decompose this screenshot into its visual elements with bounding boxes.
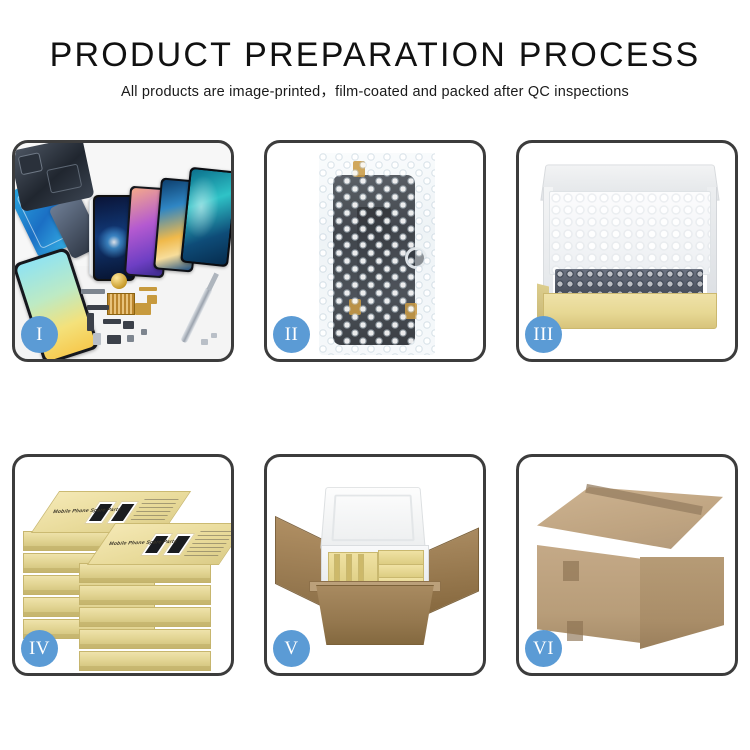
spare-part (107, 335, 121, 344)
spare-part (81, 289, 105, 294)
bubble-texture (319, 153, 435, 355)
step-badge-4: IV (21, 630, 58, 667)
inner-box (378, 550, 424, 565)
bubble-wrapped-contents (555, 269, 703, 295)
process-step-5: V (264, 454, 486, 676)
process-step-grid: I II (12, 140, 738, 680)
screw (141, 329, 147, 335)
tape-mark (567, 621, 583, 641)
process-step-4: Mobile Phone Spare Parts Mobile Phone Sp… (12, 454, 234, 676)
screw (127, 335, 134, 342)
bubble-wrap-bag (319, 153, 435, 355)
step-badge-1: I (21, 316, 58, 353)
logic-board-chip (107, 293, 135, 315)
spare-part (123, 321, 134, 329)
page-subtitle: All products are image-printed，film-coat… (0, 82, 750, 102)
step-badge-5: V (273, 630, 310, 667)
step-badge-3: III (525, 316, 562, 353)
stacked-box (79, 629, 211, 649)
stacked-box (79, 651, 211, 671)
screw (211, 333, 217, 338)
stacked-box (79, 585, 211, 605)
stacked-box (79, 607, 211, 627)
spare-part (93, 333, 101, 345)
foam-sheet (549, 191, 711, 275)
kraft-box-front (543, 293, 717, 329)
outer-carton-body (311, 585, 439, 645)
camera-module (135, 303, 151, 315)
speaker-module (111, 273, 127, 289)
styrofoam-lid (320, 487, 426, 550)
step-badge-6: VI (525, 630, 562, 667)
carton-flap-right (427, 527, 479, 614)
carton-front-face (537, 545, 641, 643)
screwdriver-tool (180, 287, 213, 344)
process-step-6: VI (516, 454, 738, 676)
process-step-2: II (264, 140, 486, 362)
flex-cable (103, 319, 121, 324)
carton-side-face (640, 557, 724, 649)
flex-cable (87, 313, 94, 331)
inner-box (378, 564, 424, 578)
step-badge-2: II (273, 316, 310, 353)
process-step-1: I (12, 140, 234, 362)
stacked-box (79, 563, 211, 583)
phone-screen-teal (180, 167, 231, 267)
page-title: PRODUCT PREPARATION PROCESS (0, 34, 750, 76)
spare-part (139, 287, 157, 291)
process-step-3: III (516, 140, 738, 362)
screw (201, 339, 208, 345)
product-preparation-infographic: PRODUCT PREPARATION PROCESS All products… (0, 0, 750, 750)
flex-cable (87, 305, 109, 310)
header: PRODUCT PREPARATION PROCESS All products… (0, 34, 750, 102)
tape-mark (563, 561, 579, 581)
